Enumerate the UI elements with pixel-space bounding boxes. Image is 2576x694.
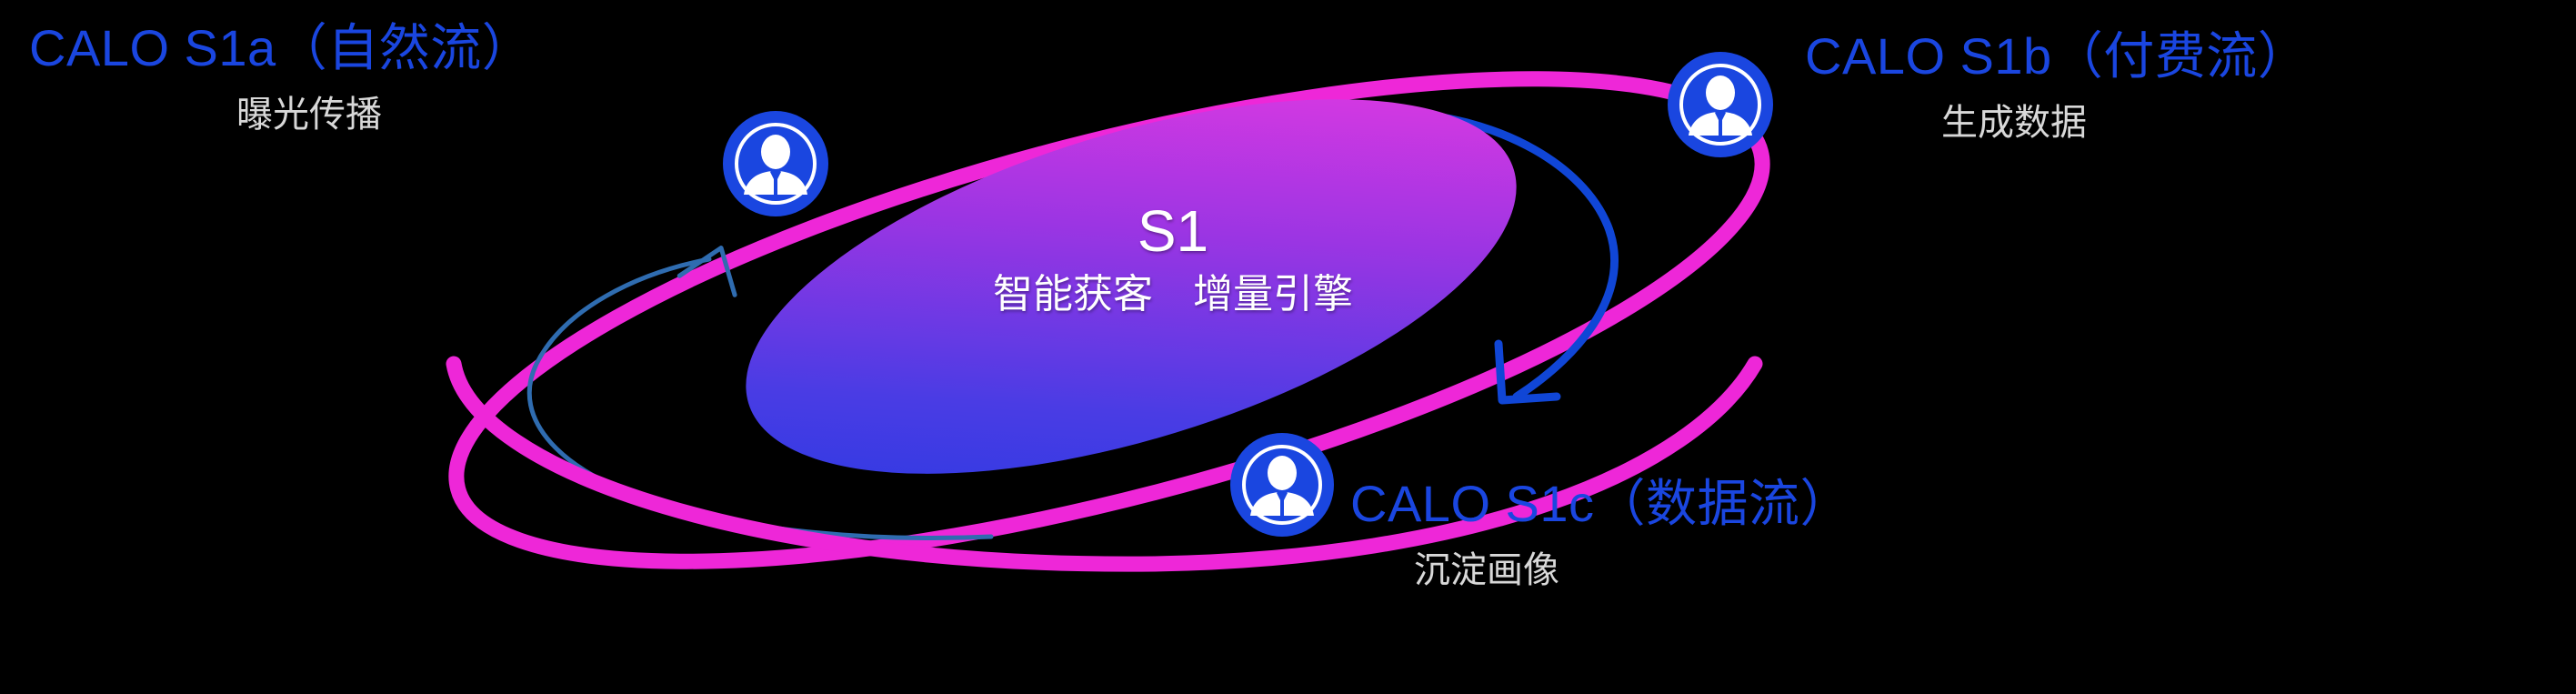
flow-subtitle-s1c: 沉淀画像 <box>1414 551 1851 589</box>
flow-title-s1a: CALO S1a（自然流） <box>29 22 533 75</box>
node-s1c[interactable] <box>1230 433 1334 537</box>
flow-title-s1c: CALO S1c（数据流） <box>1350 478 1851 531</box>
flow-subtitle-s1b: 生成数据 <box>1941 104 2309 142</box>
flow-label-s1a[interactable]: CALO S1a（自然流） 曝光传播 <box>29 22 533 134</box>
core-subtitle: 智能获客 增量引擎 <box>918 275 1428 315</box>
flow-label-s1c[interactable]: CALO S1c（数据流） 沉淀画像 <box>1350 478 1851 589</box>
node-s1a[interactable] <box>723 111 828 216</box>
core-label-group: S1 智能获客 增量引擎 <box>918 202 1428 315</box>
core-title: S1 <box>918 202 1428 260</box>
flow-title-s1b: CALO S1b（付费流） <box>1805 30 2309 84</box>
flow-subtitle-s1a: 曝光传播 <box>236 96 533 134</box>
flow-label-s1b[interactable]: CALO S1b（付费流） 生成数据 <box>1805 30 2309 142</box>
node-s1b[interactable] <box>1668 52 1773 157</box>
diagram-canvas: S1 智能获客 增量引擎 CALO S1a（自然流） 曝光传播 CALO S1b… <box>0 0 2576 694</box>
